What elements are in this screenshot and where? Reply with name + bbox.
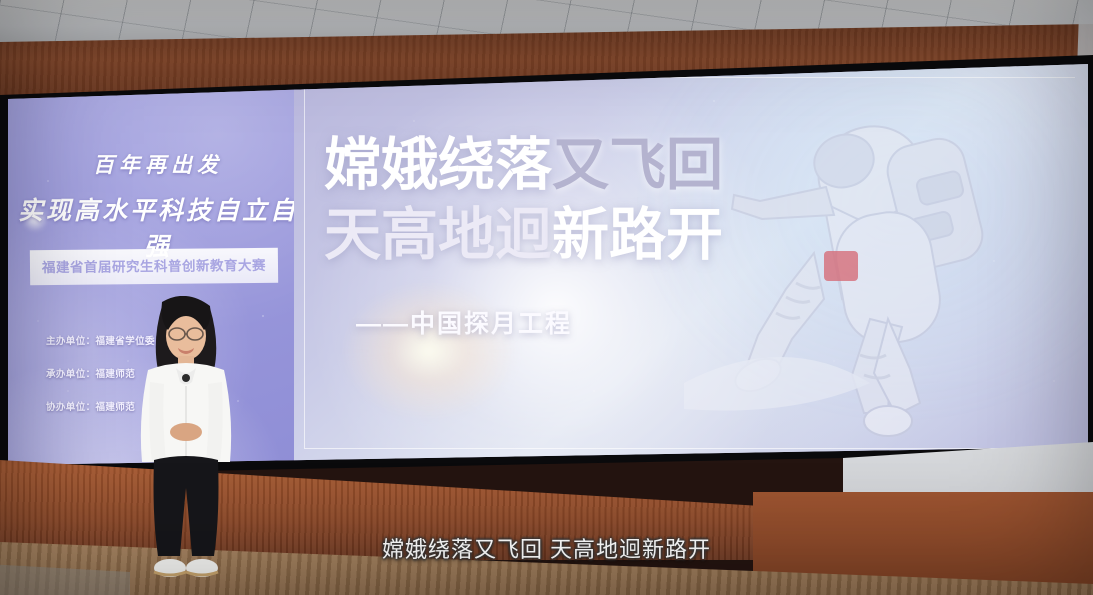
- poster-calligraphy-line-1: 百年再出发: [8, 149, 308, 179]
- projector-lens-flare: [334, 276, 524, 426]
- presenter-trousers: [154, 456, 219, 556]
- presenter-right-arm: [206, 382, 223, 462]
- main-slide-panel: 嫦娥绕落又飞回 天高地迥新路开 ——中国探月工程: [294, 61, 1088, 465]
- poster-organizer-line-3: 协办单位：福建师范: [46, 399, 135, 413]
- presenter-left-arm: [149, 382, 166, 462]
- headline-1-part-b: 又飞回: [552, 132, 723, 198]
- screenshot-root: 百年再出发 实现高水平科技自立自强 福建省首届研究生科普创新教育大赛 主办单位：…: [0, 0, 1093, 595]
- presenter-hands: [170, 423, 202, 441]
- headline-1-part-a: 嫦娥绕落: [324, 132, 552, 198]
- headline-2-part-a: 天高地迥: [324, 202, 552, 268]
- microphone-clip: [182, 374, 190, 382]
- presenter: [126, 296, 246, 594]
- slide-subtitle: ——中国探月工程: [356, 304, 572, 340]
- slide-headline-line-1: 嫦娥绕落又飞回: [324, 137, 1054, 194]
- poster-banner-title: 福建省首届研究生科普创新教育大赛: [30, 254, 278, 281]
- poster-organizer-line-2: 承办单位：福建师范: [46, 366, 135, 380]
- headline-2-part-b: 新路开: [552, 202, 723, 268]
- slide-headline-line-2: 天高地迥新路开: [324, 207, 1054, 264]
